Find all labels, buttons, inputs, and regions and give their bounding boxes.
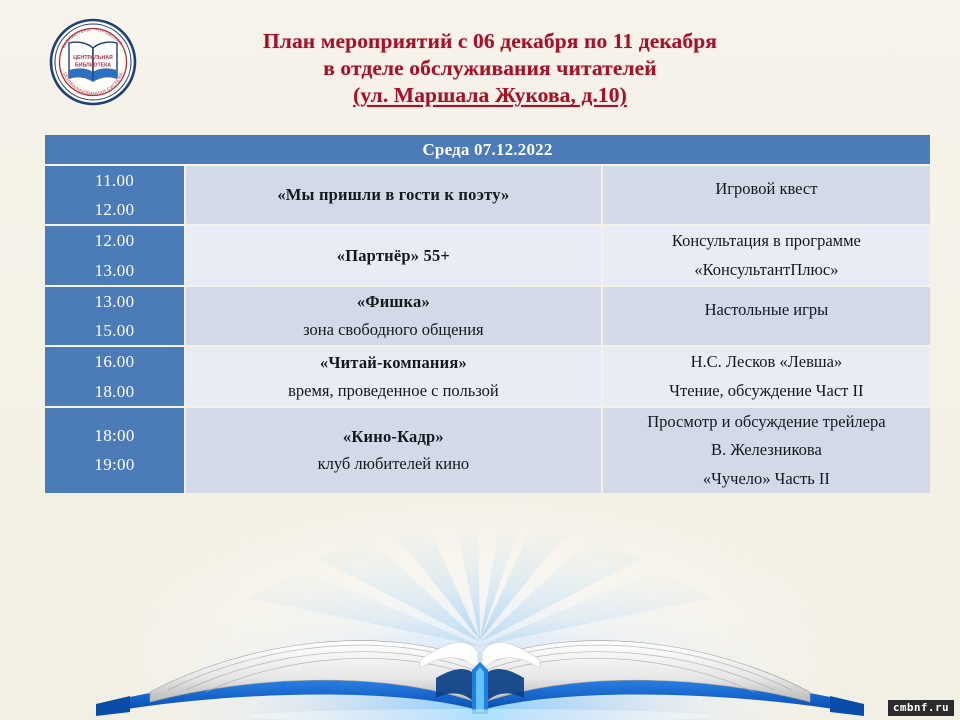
row-description-cell: Консультация в программе «КонсультантПлю…	[603, 226, 930, 284]
time-end: 12.00	[45, 195, 184, 224]
library-emblem-icon: БИБЛИОТЕКА · ГОРОДСКАЯ · · ЦЕНТРАЛИЗОВАН…	[44, 14, 142, 110]
row-event-cell: «Партнёр» 55+	[186, 226, 601, 284]
time-end: 19:00	[45, 450, 184, 479]
table-row: 18:00 19:00 «Кино-Кадр» клуб любителей к…	[45, 408, 930, 493]
row-event-cell: «Кино-Кадр» клуб любителей кино	[186, 408, 601, 493]
row-description-cell: Просмотр и обсуждение трейлера В. Железн…	[603, 408, 930, 493]
description-line: Игровой квест	[603, 175, 930, 203]
table-row: 16.00 18.00 «Читай-компания» время, пров…	[45, 347, 930, 405]
table-row: 11.00 12.00 «Мы пришли в гости к поэту» …	[45, 166, 930, 224]
row-event-cell: «Читай-компания» время, проведенное с по…	[186, 347, 601, 405]
event-title: «Кино-Кадр»	[186, 423, 601, 451]
time-end: 13.00	[45, 256, 184, 285]
title-line-2: в отделе обслуживания читателей	[170, 55, 810, 82]
table-row: 13.00 15.00 «Фишка» зона свободного обще…	[45, 287, 930, 345]
description-line: «Чучело» Часть II	[603, 465, 930, 493]
row-description-cell: Настольные игры	[603, 287, 930, 345]
table-body: 11.00 12.00 «Мы пришли в гости к поэту» …	[45, 166, 930, 493]
event-title: «Читай-компания»	[186, 349, 601, 377]
schedule-table: Среда 07.12.2022 11.00 12.00 «Мы пришли …	[43, 133, 932, 495]
open-book-illustration	[0, 520, 960, 720]
event-subtitle: зона свободного общения	[186, 316, 601, 344]
central-library-logo: БИБЛИОТЕКА · ГОРОДСКАЯ · · ЦЕНТРАЛИЗОВАН…	[44, 14, 142, 110]
watermark: cmbnf.ru	[888, 700, 954, 716]
title-line-3-address: (ул. Маршала Жукова, д.10)	[170, 82, 810, 109]
row-event-cell: «Фишка» зона свободного общения	[186, 287, 601, 345]
time-start: 11.00	[45, 166, 184, 195]
description-line: Чтение, обсуждение Част II	[603, 377, 930, 405]
description-line: Н.С. Лесков «Левша»	[603, 348, 930, 376]
table-head: Среда 07.12.2022	[45, 135, 930, 164]
row-description-cell: Игровой квест	[603, 166, 930, 224]
description-line: «КонсультантПлюс»	[603, 256, 930, 284]
event-title: «Фишка»	[186, 288, 601, 316]
page-title: План мероприятий с 06 декабря по 11 дека…	[170, 28, 810, 109]
event-title: «Партнёр» 55+	[186, 242, 601, 270]
time-start: 12.00	[45, 226, 184, 255]
row-time-cell: 18:00 19:00	[45, 408, 184, 493]
event-subtitle: время, проведенное с пользой	[186, 377, 601, 405]
time-start: 18:00	[45, 421, 184, 450]
svg-text:БИБЛИОТЕКА: БИБЛИОТЕКА	[75, 63, 111, 69]
description-line: Консультация в программе	[603, 227, 930, 255]
event-subtitle: клуб любителей кино	[186, 450, 601, 478]
row-time-cell: 11.00 12.00	[45, 166, 184, 224]
time-end: 15.00	[45, 316, 184, 345]
slide-canvas: БИБЛИОТЕКА · ГОРОДСКАЯ · · ЦЕНТРАЛИЗОВАН…	[0, 0, 960, 720]
description-line: В. Железникова	[603, 436, 930, 464]
title-line-1: План мероприятий с 06 декабря по 11 дека…	[170, 28, 810, 55]
description-line: Просмотр и обсуждение трейлера	[603, 408, 930, 436]
time-end: 18.00	[45, 377, 184, 406]
time-start: 16.00	[45, 347, 184, 376]
row-time-cell: 16.00 18.00	[45, 347, 184, 405]
table-row: 12.00 13.00 «Партнёр» 55+ Консультация в…	[45, 226, 930, 284]
svg-text:ЦЕНТРАЛЬНАЯ: ЦЕНТРАЛЬНАЯ	[73, 55, 113, 61]
open-book-icon	[0, 520, 960, 720]
row-time-cell: 12.00 13.00	[45, 226, 184, 284]
table-header-row: Среда 07.12.2022	[45, 135, 930, 164]
event-title: «Мы пришли в гости к поэту»	[186, 181, 601, 209]
time-start: 13.00	[45, 287, 184, 316]
row-time-cell: 13.00 15.00	[45, 287, 184, 345]
description-line: Настольные игры	[603, 296, 930, 324]
row-event-cell: «Мы пришли в гости к поэту»	[186, 166, 601, 224]
table-date-header: Среда 07.12.2022	[45, 135, 930, 164]
row-description-cell: Н.С. Лесков «Левша» Чтение, обсуждение Ч…	[603, 347, 930, 405]
